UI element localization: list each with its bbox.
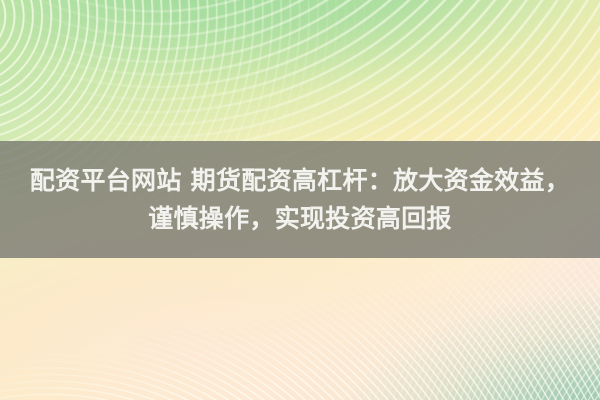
title-line-1: 配资平台网站 期货配资高杠杆：放大资金效益，: [30, 162, 570, 200]
title-banner: 配资平台网站 期货配资高杠杆：放大资金效益， 谨慎操作，实现投资高回报: [0, 141, 600, 258]
title-line-2: 谨慎操作，实现投资高回报: [148, 200, 452, 238]
cover-image-canvas: 配资平台网站 期货配资高杠杆：放大资金效益， 谨慎操作，实现投资高回报: [0, 0, 600, 400]
